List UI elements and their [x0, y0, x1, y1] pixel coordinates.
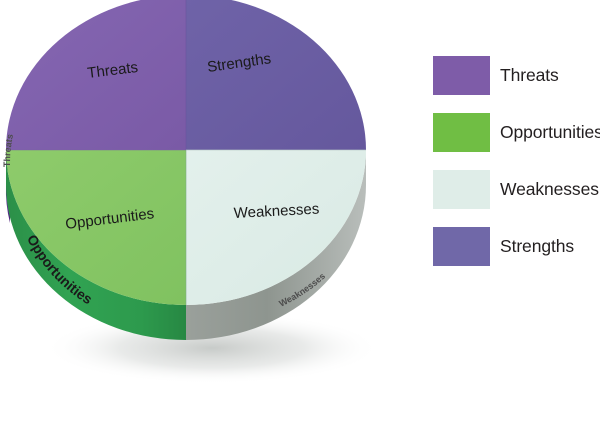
legend-label-opportunities: Opportunities — [500, 113, 600, 152]
chart-canvas: Threats Strengths Opportunities Weakness… — [0, 0, 600, 421]
chart-legend: Threats Opportunities Weaknesses Strengt… — [433, 56, 600, 284]
legend-swatch-opportunities — [433, 113, 490, 152]
pie-slice-weaknesses[interactable] — [186, 150, 366, 305]
legend-item-weaknesses[interactable]: Weaknesses — [433, 170, 600, 227]
legend-label-threats: Threats — [500, 56, 559, 95]
legend-label-weaknesses: Weaknesses — [500, 170, 599, 209]
legend-label-strengths: Strengths — [500, 227, 574, 266]
legend-swatch-weaknesses — [433, 170, 490, 209]
legend-item-threats[interactable]: Threats — [433, 56, 600, 113]
legend-swatch-strengths — [433, 227, 490, 266]
legend-item-opportunities[interactable]: Opportunities — [433, 113, 600, 170]
legend-swatch-threats — [433, 56, 490, 95]
legend-item-strengths[interactable]: Strengths — [433, 227, 600, 284]
